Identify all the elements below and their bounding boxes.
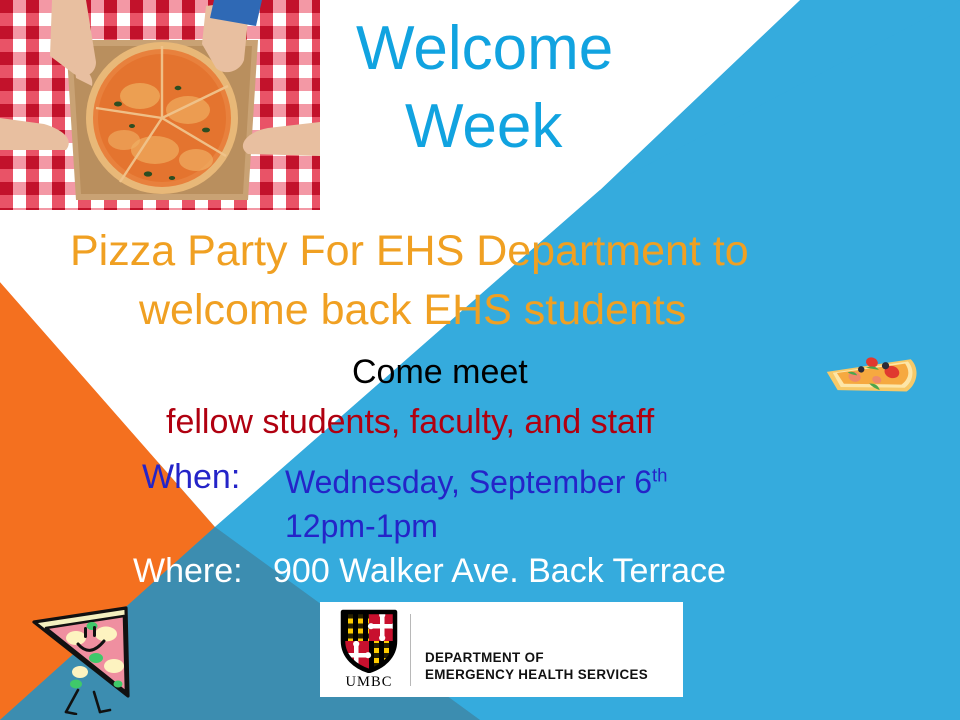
- logo-dept-line-1: DEPARTMENT OF: [425, 649, 648, 666]
- when-date-value: Wednesday, September 6th: [285, 466, 668, 500]
- when-date-text: Wednesday, September 6: [285, 464, 652, 500]
- when-label: When:: [142, 460, 240, 496]
- pizza-mascot-graphic: [18, 600, 142, 715]
- come-meet-text: Come meet: [352, 355, 528, 391]
- when-time-value: 12pm-1pm: [285, 510, 438, 544]
- subtitle-line-2: welcome back EHS students: [139, 288, 686, 333]
- where-value: 900 Walker Ave. Back Terrace: [273, 554, 726, 590]
- logo-divider: [410, 614, 411, 686]
- pizza-photo-graphic: [0, 0, 320, 210]
- logo-department-text: DEPARTMENT OF EMERGENCY HEALTH SERVICES: [425, 612, 648, 688]
- pizza-slice-icon: [812, 330, 932, 420]
- pizza-photo: [0, 0, 320, 210]
- title-line-2: Week: [405, 94, 562, 159]
- umbc-logo-box: UMBC DEPARTMENT OF EMERGENCY HEALTH SERV…: [320, 602, 683, 697]
- title-line-1: Welcome: [356, 16, 613, 81]
- when-date-ordinal: th: [652, 464, 667, 485]
- logo-dept-line-2: EMERGENCY HEALTH SERVICES: [425, 666, 648, 683]
- flyer-slide: Welcome Week Pizza Party For EHS Departm…: [0, 0, 960, 720]
- umbc-shield-wrap: UMBC: [333, 609, 405, 691]
- umbc-wordmark: UMBC: [345, 674, 392, 691]
- where-label: Where:: [133, 554, 243, 590]
- subtitle-line-1: Pizza Party For EHS Department to: [70, 229, 749, 274]
- fellow-students-text: fellow students, faculty, and staff: [166, 405, 654, 441]
- pizza-slice-graphic: [812, 330, 932, 420]
- maryland-flag-shield-icon: [340, 609, 398, 673]
- pizza-mascot-icon: [18, 600, 142, 715]
